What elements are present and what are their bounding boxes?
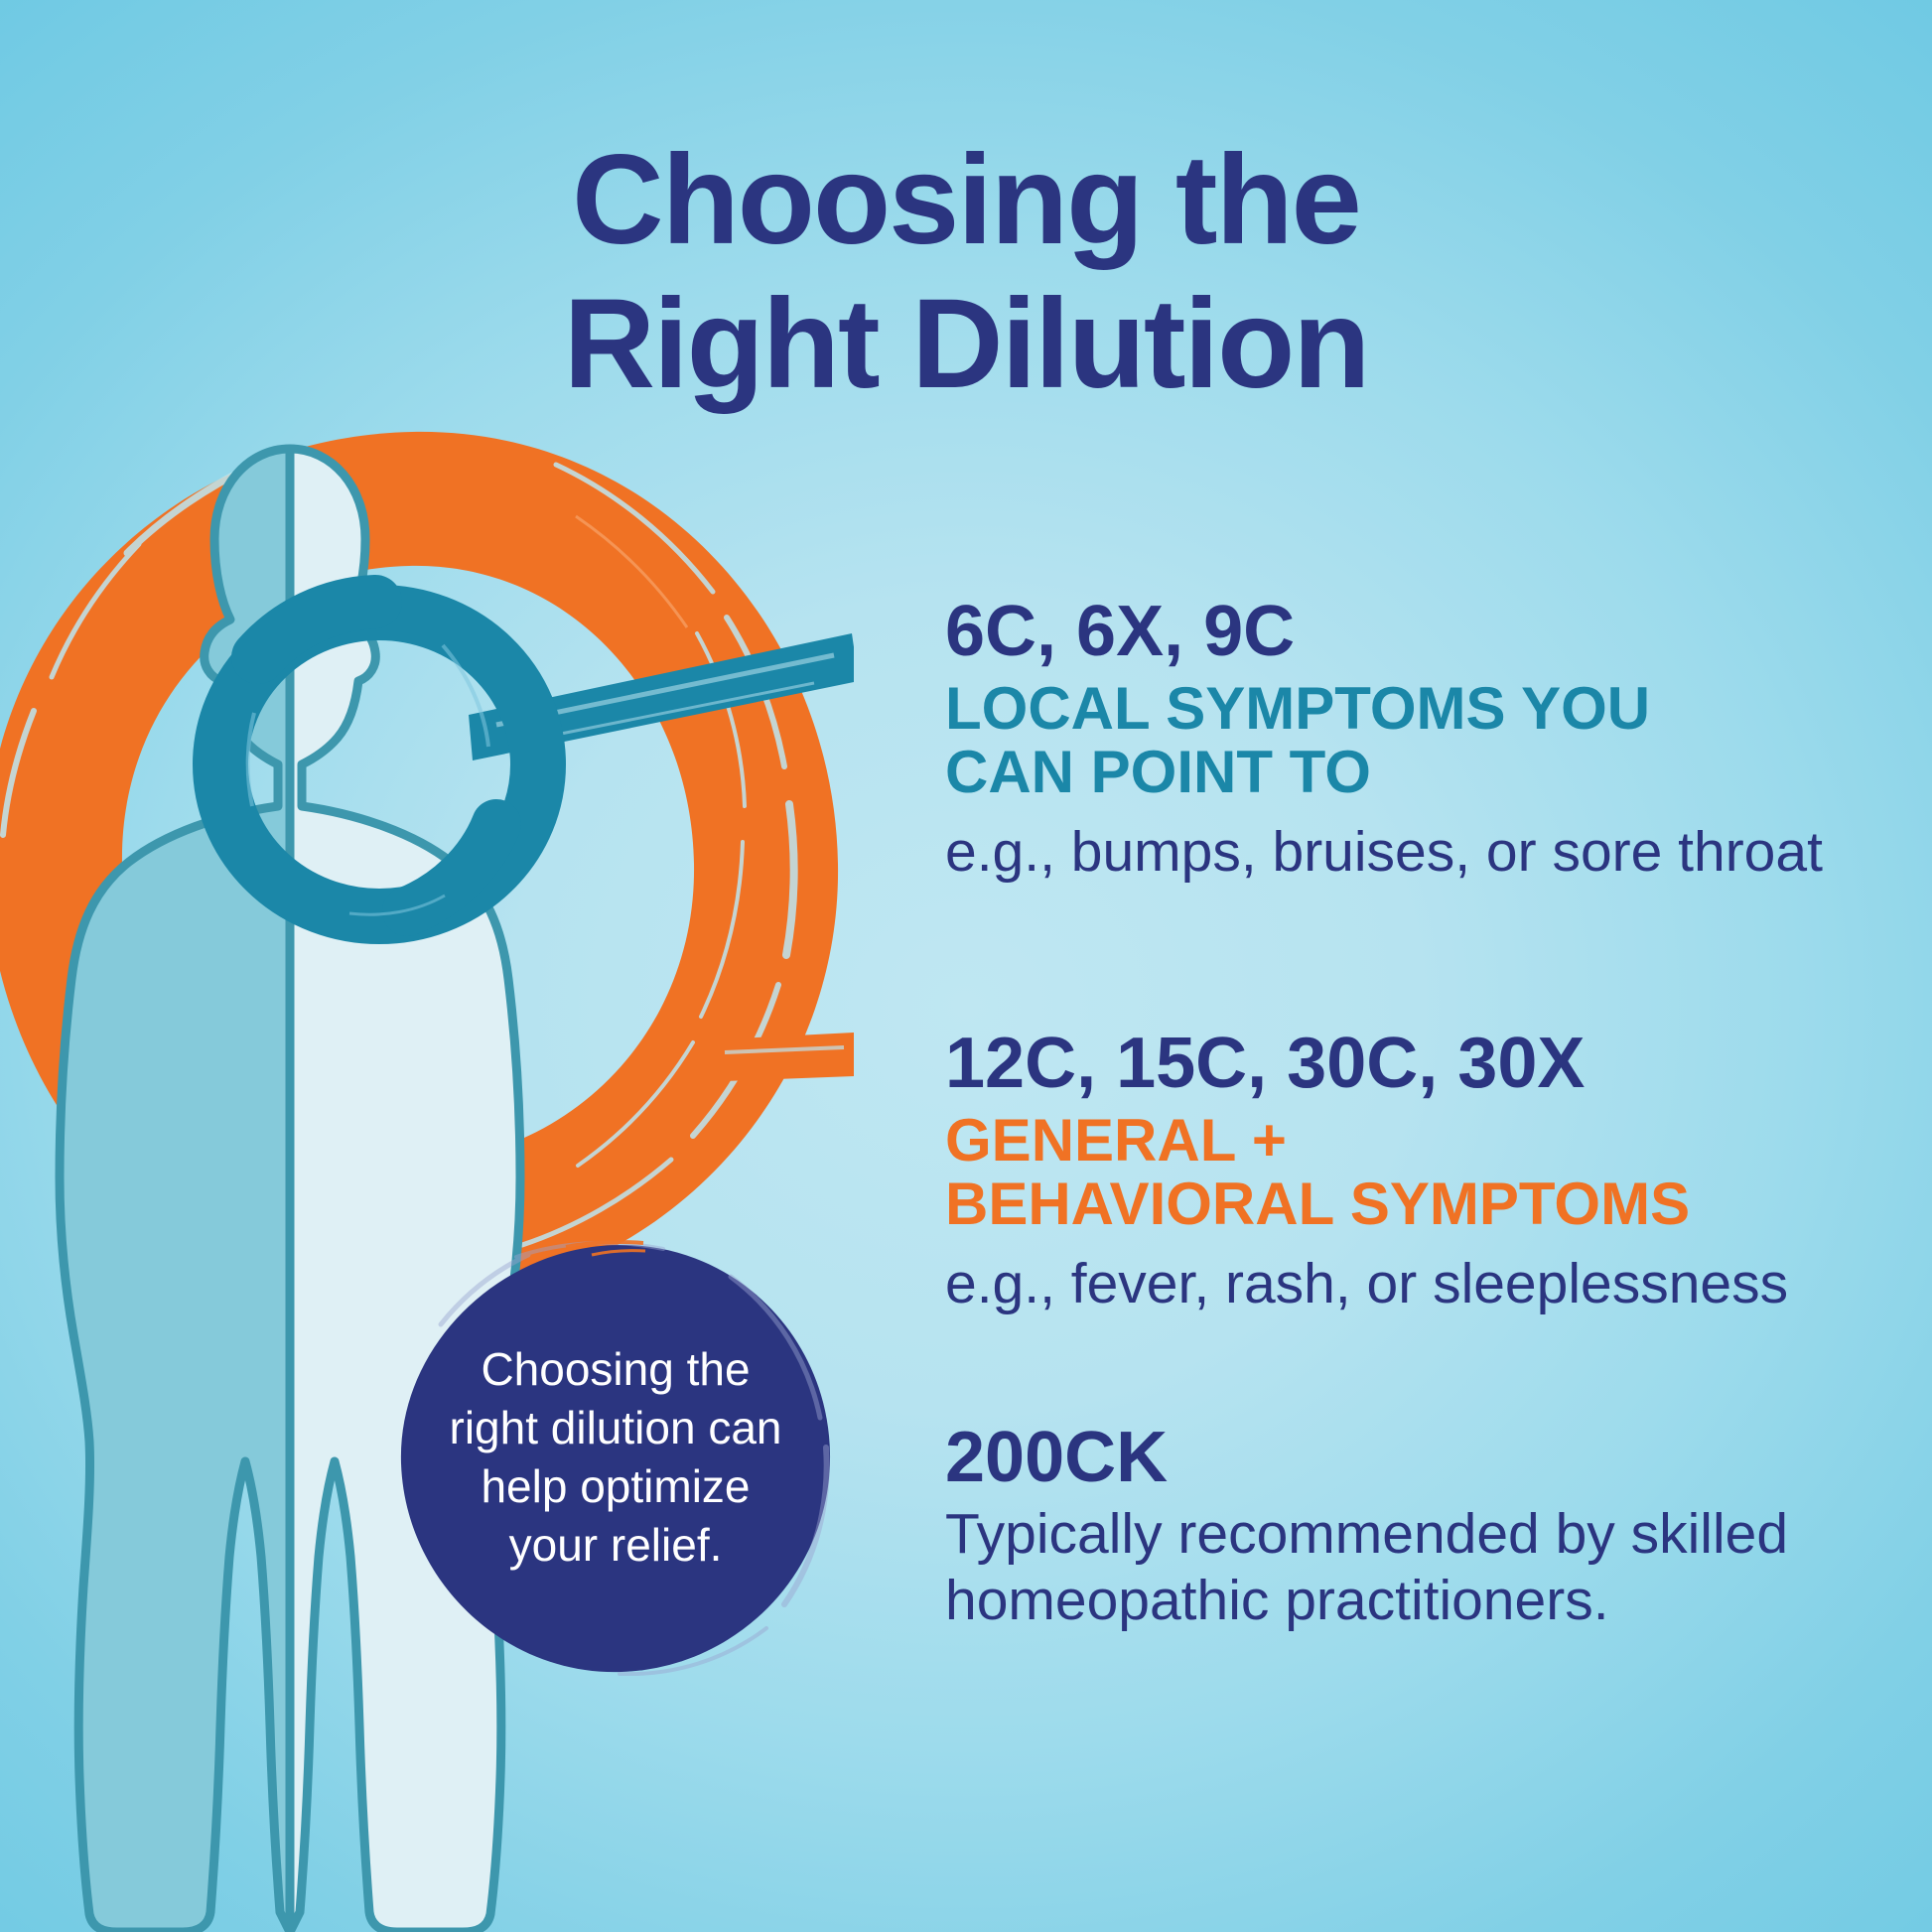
- illustration-group: [0, 397, 854, 1932]
- dilution-block-200ck: 200CK Typically recommended by skilled h…: [945, 1422, 1918, 1635]
- block-2-subheading-line-2: BEHAVIORAL SYMPTOMS: [945, 1173, 1918, 1236]
- dilution-block-general: 12C, 15C, 30C, 30X GENERAL + BEHAVIORAL …: [945, 1028, 1918, 1317]
- block-2-subheading: GENERAL + BEHAVIORAL SYMPTOMS: [945, 1109, 1918, 1235]
- block-2-subheading-line-1: GENERAL +: [945, 1109, 1918, 1173]
- block-1-heading: 6C, 6X, 9C: [945, 596, 1918, 667]
- block-3-note-line-2: homeopathic practitioners.: [945, 1568, 1918, 1634]
- infographic-poster: Choosing the Right Dilution: [0, 0, 1932, 1932]
- dilution-block-local: 6C, 6X, 9C LOCAL SYMPTOMS YOU CAN POINT …: [945, 596, 1918, 886]
- block-2-heading: 12C, 15C, 30C, 30X: [945, 1028, 1918, 1099]
- block-2-note: e.g., fever, rash, or sleeplessness: [945, 1251, 1918, 1317]
- page-title: Choosing the Right Dilution: [0, 129, 1932, 416]
- page-title-line-1: Choosing the: [0, 129, 1932, 273]
- block-1-note: e.g., bumps, bruises, or sore throat: [945, 819, 1918, 886]
- block-1-subheading-line-2: CAN POINT TO: [945, 741, 1918, 804]
- badge-circle: Choosing the right dilution can help opt…: [397, 1239, 834, 1676]
- block-1-subheading-line-1: LOCAL SYMPTOMS YOU: [945, 677, 1918, 741]
- page-title-line-2: Right Dilution: [0, 273, 1932, 417]
- block-3-note-line-1: Typically recommended by skilled: [945, 1501, 1918, 1568]
- block-1-subheading: LOCAL SYMPTOMS YOU CAN POINT TO: [945, 677, 1918, 803]
- block-3-heading: 200CK: [945, 1422, 1918, 1493]
- badge-text: Choosing the right dilution can help opt…: [397, 1239, 834, 1676]
- block-3-note: Typically recommended by skilled homeopa…: [945, 1501, 1918, 1635]
- orange-pointer-line: [698, 1033, 854, 1082]
